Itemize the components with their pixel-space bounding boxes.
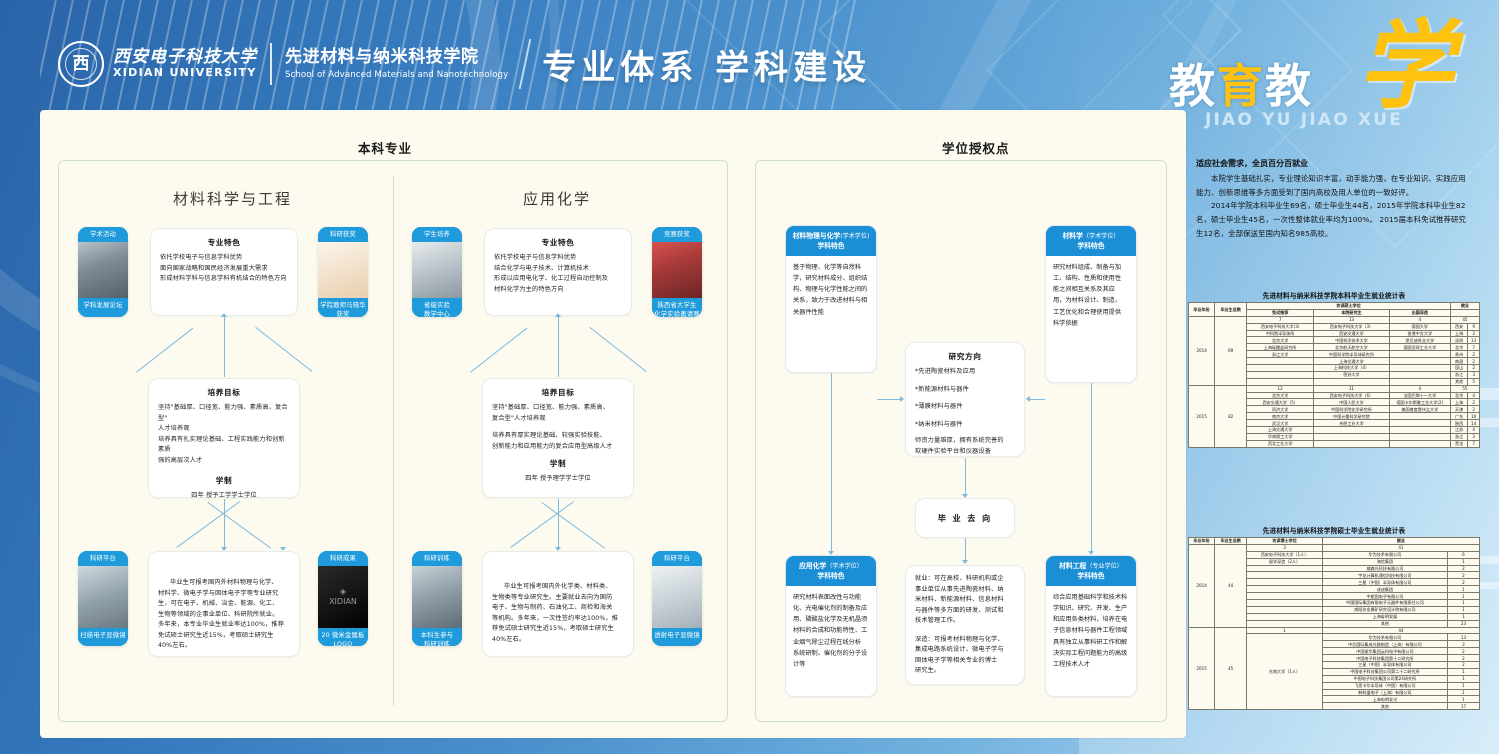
cell-recommend: 西安交通大学（5） [1247, 399, 1314, 406]
photo-card-student-training[interactable]: 学生培养 省级实验 教学中心 [412, 227, 462, 317]
th-year: 毕业年份 [1189, 538, 1215, 545]
cell-employer: 成迪集团 [1322, 586, 1447, 593]
cell-number: 1 [1447, 613, 1479, 620]
cell-number: 2 [1468, 406, 1480, 413]
cell-region: 北京 [1450, 344, 1467, 351]
cell-employer: 韩科盛电子（上海）有限公司 [1322, 689, 1447, 696]
cell-number: 13 [1468, 337, 1480, 344]
discipline-body: 研究材料组成、制备与加 工、结构、性质和使用性 能之间相互关系及其应 用，为材料… [1046, 256, 1136, 334]
cell-number: 7 [1468, 440, 1480, 447]
cell-internal: 中国计量科学研究院 [1314, 413, 1390, 420]
cell-count: 4 [1389, 316, 1450, 323]
cell-employer: 威森光科技有限公司 [1322, 565, 1447, 572]
cell-employer: 宇龙计算机通信科技有限公司 [1322, 572, 1447, 579]
photo-card-head: 学术活动 [78, 227, 128, 242]
cell-number: 1 [1447, 696, 1479, 703]
cell-total: 44 [1215, 544, 1247, 627]
cell-number: 1 [1447, 689, 1479, 696]
cell-number: 2 [1447, 662, 1479, 669]
goal-box-chemistry: 培养目标 坚持"基础厚、口径宽、能力强、素质高、 复合型"人才培养观 培养具有厚… [482, 378, 634, 498]
discipline-line: 计等 [793, 659, 869, 670]
goal-line: 创新能力和应用能力的复合应用型高级人才 [492, 442, 624, 453]
photo-card-caption: 陕西省大学生 化学实验邀请赛 [652, 298, 702, 317]
feature-line: 形成以应用电化学、化工过程自动控制及 [494, 274, 622, 285]
outcome-line: 等机构。多年来，一次性签约率达100%，推 [492, 614, 624, 625]
cell-internal: 密苏大学 [1314, 371, 1390, 378]
discipline-card-materials-physics-chemistry[interactable]: 材料物理与化学(学术学位) 学科特色 基于物理、化学等自然科 学，研究材料成分、… [785, 225, 877, 373]
outcome-line: 40%左右。 [158, 641, 290, 652]
discipline-body: 研究材料表面改性与功能 化、光电催化剂的制备及应 用、磷酸盐化学及无机晶须 材料… [786, 586, 876, 675]
cell-number: 13 [1447, 634, 1479, 641]
badge-char-yu: 育 [1217, 59, 1265, 113]
school-name-cn: 先进材料与纳米科技学院 [285, 47, 508, 68]
discipline-line: 和应用各类材料，培养在电 [1053, 614, 1129, 625]
cell-number: 1 [1447, 586, 1479, 593]
feature-box-chemistry: 专业特色 依托学校电子与信息学科优势 结合化学与电子技术、计算机技术 形成以应用… [484, 228, 632, 316]
connector-v [558, 499, 559, 547]
feature-line: 面向国家战略和国民经济发展重大需求 [160, 264, 288, 275]
cell-abroad [1389, 427, 1450, 434]
connector-v [965, 458, 966, 494]
cell-job-count: 41 [1322, 544, 1479, 551]
photo-card-research-platform-tem[interactable]: 科研平台 透射电子显微镜 [652, 551, 702, 646]
cell-number: 2 [1447, 648, 1479, 655]
page-title: 专业体系 学科建设 [542, 40, 871, 89]
discipline-head: 应用化学（学术学位） 学科特色 [786, 556, 876, 586]
cell-employer: 中航国电子有限公司 [1322, 593, 1447, 600]
photo-card-caption: 学院教师马晓华获奖 陕西省科技进步一等奖 [318, 298, 368, 317]
th-internal: 本院研究生 [1314, 309, 1390, 316]
discipline-degree: （学术学位） [826, 563, 863, 570]
th-employment: 就业 [1322, 538, 1479, 545]
discipline-card-materials-engineering[interactable]: 材料工程（专业学位） 学科特色 综合应用基础科学和技术科 学知识、研究、开发、生… [1045, 555, 1137, 697]
connector-arrow [1026, 396, 1030, 402]
cell-recommend [1247, 358, 1314, 365]
cell-number: 1 [1447, 600, 1479, 607]
outcome-line: 电子、生物与制药、石油化工、商检和海关 [492, 603, 624, 614]
badge-char-xue: 学 [1357, 18, 1453, 114]
cell-recommend: 西安电子科技大学(3) [1247, 323, 1314, 330]
cell-abroad [1389, 413, 1450, 420]
connector-v [224, 317, 225, 377]
discipline-line: 构、物理与化学性能之间的 [793, 284, 869, 295]
cell-recommend: 浙江大学 [1247, 351, 1314, 358]
discipline-line: 学知识、研究、开发、生产 [1053, 603, 1129, 614]
master-table-title: 先进材料与纳米科技学院硕士毕业生就业统计表 [1188, 525, 1480, 535]
cell-region: 浙江 [1450, 433, 1467, 440]
cell-region: 上海 [1450, 399, 1467, 406]
outcome-line: 毕业生可报考国内外材料物理与化学、 [158, 578, 290, 589]
discipline-line: 能之间相互关系及其应 [1053, 284, 1129, 295]
discipline-line: 学，研究材料成分、组织结 [793, 273, 869, 284]
cell-phd [1247, 606, 1323, 613]
seal-glyph: 西 [73, 56, 90, 73]
outcome-line: 荐免试硕士研究生近15%，考取硕士研究生 [492, 624, 624, 635]
cell-recommend: 上海硅酸盐研究所 [1247, 344, 1314, 351]
photo-card-competition-award[interactable]: 竞赛获奖 陕西省大学生 化学实验邀请赛 [652, 227, 702, 317]
discipline-head: 材料学（学术学位） 学科特色 [1046, 226, 1136, 256]
cell-phd [1247, 565, 1323, 572]
photo-card-caption: 学科发展论坛 [78, 298, 128, 313]
cell-count: 45 [1450, 316, 1479, 323]
cell-count: 12 [1247, 385, 1314, 392]
feature-line: 结合化学与电子技术、计算机技术 [494, 264, 622, 275]
undergrad-stats-table-wrap: 先进材料与纳米科技学院本科毕业生就业统计表 毕业年份毕业生总数攻读硕士学位就业免… [1188, 290, 1480, 448]
discipline-line: 基于物理、化学等自然科 [793, 262, 869, 273]
discipline-line: 业烟气除尘过程在线分析 [793, 637, 869, 648]
discipline-line: 关系，致力于改进材料与相 [793, 295, 869, 306]
cell-phd [1247, 579, 1323, 586]
discipline-card-applied-chemistry[interactable]: 应用化学（学术学位） 学科特色 研究材料表面改性与功能 化、光电催化剂的制备及应… [785, 555, 877, 697]
cell-recommend [1247, 371, 1314, 378]
photo-card-head: 科研平台 [652, 551, 702, 566]
connector-arrow [962, 560, 968, 564]
discipline-card-materials-science[interactable]: 材料学（学术学位） 学科特色 研究材料组成、制备与加 工、结构、性质和使用性 能… [1045, 225, 1137, 383]
cell-number: 1 [1447, 558, 1479, 565]
th-employment: 就业 [1450, 303, 1479, 310]
discipline-line: 具有独立从事科研工作和解 [1053, 637, 1129, 648]
photo-card-research-training[interactable]: 科研训练 本科生参与 科研训练 [412, 551, 462, 646]
discipline-line: 工、结构、性质和使用性 [1053, 273, 1129, 284]
cell-internal: 北京航天航空大学 [1314, 344, 1390, 351]
table-header-row: 毕业年份毕业生总数攻读博士学位就业 [1189, 538, 1480, 545]
cell-employer: 中国电子科技集团公司第二十二研究所 [1322, 668, 1447, 675]
cell-region: 昆山 [1450, 365, 1467, 372]
university-names: 西安电子科技大学 XIDIAN UNIVERSITY [113, 48, 257, 81]
destination-title: 毕 业 去 向 [938, 513, 992, 524]
cell-abroad: 德国大学 [1389, 323, 1450, 330]
cell-number: 6 [1447, 551, 1479, 558]
brand-divider [270, 43, 272, 85]
th-total: 毕业生总数 [1215, 303, 1247, 317]
photo-card-caption: 本科生参与 科研训练 [412, 628, 462, 646]
feature-line: 形成材料学科与信息学科有机结合的特色方向 [160, 274, 288, 285]
cell-number: 3 [1468, 433, 1480, 440]
cell-number: 1 [1447, 593, 1479, 600]
goal-line: 强的高层次人才 [158, 456, 290, 467]
cell-internal: 合肥工业大学 [1314, 420, 1390, 427]
discipline-line: 系统研制、催化剂的分子设 [793, 648, 869, 659]
cell-region: 北京 [1450, 392, 1467, 399]
photo-image [78, 566, 128, 628]
cell-internal [1314, 440, 1390, 447]
photo-image [652, 242, 702, 298]
cell-count: 13 [1314, 316, 1390, 323]
cell-number: 2 [1468, 330, 1480, 337]
discipline-name: 材料物理与化学 [793, 232, 841, 240]
photo-image [78, 242, 128, 298]
left-column-title: 本科专业 [358, 138, 412, 157]
cell-region: 天津 [1450, 406, 1467, 413]
table-header-row: 毕业年份毕业生总数攻读硕士学位就业 [1189, 303, 1480, 310]
goal-line-spacer [492, 424, 624, 431]
cell-phd [1247, 613, 1323, 620]
th-total: 毕业生总数 [1215, 538, 1247, 545]
cell-abroad [1389, 358, 1450, 365]
cell-internal: 中国科学院半导体研究所 [1314, 351, 1390, 358]
cell-number: 2 [1447, 655, 1479, 662]
cell-count: 55 [1450, 385, 1479, 392]
photo-card-head: 学生培养 [412, 227, 462, 242]
goal-line: 坚持"基础厚、口径宽、能力强、素质高、复合型" [158, 403, 290, 424]
discipline-name: 应用化学 [799, 562, 826, 570]
photo-image [412, 242, 462, 298]
cell-recommend: 上海交通大学 [1247, 427, 1314, 434]
cell-number: 10 [1468, 413, 1480, 420]
cell-region: 浙江 [1450, 371, 1467, 378]
cell-recommend: 华南理工大学 [1247, 433, 1314, 440]
cell-abroad: 美国普度堡州立大学 [1389, 406, 1450, 413]
connector-v [965, 538, 966, 560]
cell-recommend: 北京大学 [1247, 337, 1314, 344]
cell-phd: 东南大学（1人） [1247, 634, 1323, 710]
photo-card-research-platform-sem[interactable]: 科研平台 扫描电子显微镜 [78, 551, 128, 646]
right-info-panel: 适应社会需求，全员百分百就业 本院学生基础扎实，专业理论知识丰富，动手能力强，在… [1186, 110, 1486, 738]
discipline-line: 用、磷酸盐化学及无机晶须 [793, 614, 869, 625]
discipline-line: 关器件性能 [793, 307, 869, 318]
photo-card-caption: 20 微米金属板 LOGO [318, 628, 368, 646]
cell-job-count: 44 [1322, 627, 1479, 634]
cell-number: 3 [1447, 641, 1479, 648]
cell-phd [1247, 572, 1323, 579]
photo-card-research-award[interactable]: 科研获奖 学院教师马晓华获奖 陕西省科技进步一等奖 [318, 227, 368, 317]
research-item: *先进陶瓷材料及应用 [915, 367, 1015, 378]
cell-year: 2015 [1189, 627, 1215, 710]
cell-internal [1314, 427, 1390, 434]
major-title-chemistry: 应用化学 [523, 188, 591, 209]
cell-employer: 华为技术有限公司 [1322, 551, 1447, 558]
employment-line: 事业单位从事先进陶瓷材料、纳 [915, 585, 1015, 596]
cell-number: 4 [1468, 392, 1480, 399]
cell-count: 4 [1389, 385, 1450, 392]
connector-h [877, 399, 900, 400]
connector-v [558, 317, 559, 377]
goal-line: 培养具有厚实理论基础、较强实验技能、 [492, 431, 624, 442]
cell-abroad [1389, 365, 1450, 372]
cell-phd-count: 3 [1247, 544, 1323, 551]
undergrad-employment-table[interactable]: 毕业年份毕业生总数攻读硕士学位就业免试推荐本院研究生出国深造2014697134… [1188, 302, 1480, 448]
cell-internal: 上海科技大学（4） [1314, 365, 1390, 372]
school-names: 先进材料与纳米科技学院 School of Advanced Materials… [285, 47, 508, 80]
cell-number: 23 [1447, 620, 1479, 627]
table-row: 201469713445 [1189, 316, 1480, 323]
research-item: *新能源材料与器件 [915, 385, 1015, 396]
th-phd: 攻读博士学位 [1247, 538, 1323, 545]
connector-v-long-right [1091, 383, 1092, 551]
school-name-en: School of Advanced Materials and Nanotec… [285, 69, 508, 81]
cell-abroad [1389, 371, 1450, 378]
photo-image [318, 242, 368, 298]
cell-employer: 咸阳非金属矿研究设计院有限公司 [1322, 606, 1447, 613]
further-line: 深造：可报考材料物理与化学、 [915, 635, 1015, 646]
employment-line: 与器件等多方面的研发、测试和 [915, 606, 1015, 617]
outcome-line: 免试硕士研究生近15%，考取硕士研究生 [158, 631, 290, 642]
cell-region: 上海 [1450, 330, 1467, 337]
discipline-degree: (学术学位) [840, 233, 869, 240]
discipline-line: 决实际工程问题能力的高级 [1053, 648, 1129, 659]
cell-abroad: 香港中文大学 [1389, 330, 1450, 337]
cell-number: 9 [1468, 323, 1480, 330]
discipline-subtitle: 学科特色 [1077, 572, 1104, 580]
discipline-line: 用，为材料设计、制造、 [1053, 295, 1129, 306]
outcome-line: 多年来，本专业毕业生就业率达100%，推荐 [158, 620, 290, 631]
photo-card-head: 科研获奖 [318, 227, 368, 242]
cell-phd [1247, 593, 1323, 600]
undergrad-table-title: 先进材料与纳米科技学院本科毕业生就业统计表 [1188, 290, 1480, 300]
cell-abroad: 法国巴黎十一大学 [1389, 392, 1450, 399]
cell-employer: 其他 [1322, 620, 1447, 627]
photo-card-head: 竞赛获奖 [652, 227, 702, 242]
cell-recommend: 中科院半导体所 [1247, 330, 1314, 337]
employment-line: 技术管理工作。 [915, 616, 1015, 627]
goal-line: 复合型"人才培养观 [492, 414, 624, 425]
feature-line: 依托学校电子与信息学科优势 [494, 253, 622, 264]
feature-title: 专业特色 [160, 237, 288, 248]
cell-recommend: 西北工业大学 [1247, 440, 1314, 447]
cell-region: 其他 [1450, 378, 1467, 385]
cell-internal: 上海交通大学 [1314, 358, 1390, 365]
discipline-head: 材料工程（专业学位） 学科特色 [1046, 556, 1136, 586]
outcome-line: 毕业生可报考国内外化学类、材料类、 [492, 582, 624, 593]
cell-abroad [1389, 433, 1450, 440]
goal-line: 培养具有扎实理论基础、工程实践能力和创新素质 [158, 435, 290, 456]
cell-number: 1 [1447, 668, 1479, 675]
page-header: 西 西安电子科技大学 XIDIAN UNIVERSITY 先进材料与纳米科技学院… [0, 0, 1499, 118]
discipline-name: 材料工程 [1059, 562, 1086, 570]
outcome-line: 40%左右。 [492, 635, 624, 646]
cell-total: 45 [1215, 627, 1247, 710]
cell-phd: 西安电子科技大学（1人） [1247, 551, 1323, 558]
badge-char-jiao1: 教 [1169, 59, 1217, 113]
cell-number: 1 [1447, 682, 1479, 689]
photo-card-caption: 透射电子显微镜 [652, 628, 702, 643]
photo-card-research-achievement[interactable]: 科研成果 ◈XIDIAN 20 微米金属板 LOGO [318, 551, 368, 646]
cell-region: 贵州 [1450, 351, 1467, 358]
cell-recommend: 武汉大学 [1247, 420, 1314, 427]
th-abroad: 出国深造 [1389, 309, 1450, 316]
goal-title: 培养目标 [158, 387, 290, 398]
employment-paragraph: 2014年学院本科毕业生69名，硕士毕业生44名，2015年学院本科毕业生82名… [1196, 199, 1472, 240]
goal-box-materials: 培养目标 坚持"基础厚、口径宽、能力强、素质高、复合型" 人才培养观 培养具有扎… [148, 378, 300, 498]
cell-employer: 华为技术有限公司 [1322, 634, 1447, 641]
cell-number: 4 [1468, 427, 1480, 434]
cell-internal: 西安电子科技大学（6） [1314, 392, 1390, 399]
feature-line: 材料化学为主的特色方向 [494, 285, 622, 296]
cell-number: 2 [1447, 572, 1479, 579]
brand-lockup: 西 西安电子科技大学 XIDIAN UNIVERSITY 先进材料与纳米科技学院… [58, 36, 871, 92]
discipline-line: 工艺优化和合理使用提供 [1053, 307, 1129, 318]
employment-line: 米材料、新能源材料、信息材料 [915, 595, 1015, 606]
xidian-logo-icon: ◈XIDIAN [329, 587, 357, 608]
majors-divider [393, 176, 394, 706]
cell-internal: 西安交通大学 [1314, 330, 1390, 337]
discipline-degree: （学术学位） [1083, 233, 1120, 240]
cell-recommend [1247, 365, 1314, 372]
system-title: 学制 [492, 458, 624, 469]
photo-image [412, 566, 462, 628]
cell-internal [1314, 433, 1390, 440]
cell-abroad: 德国亚琛工业大学 [1389, 344, 1450, 351]
cell-number: 3 [1468, 371, 1480, 378]
cell-number: 2 [1468, 365, 1480, 372]
table-row: 201545144 [1189, 627, 1480, 634]
cell-employer: 中国电子科技集团第十二研究所 [1322, 655, 1447, 662]
cell-number: 1 [1447, 675, 1479, 682]
connector-arrow [555, 313, 561, 317]
discipline-line: 工程技术人才 [1053, 659, 1129, 670]
photo-card-head: 科研训练 [412, 551, 462, 566]
cell-number: 7 [1468, 344, 1480, 351]
outcome-line: 生物类等专业研究生。主要就业去向为国防 [492, 593, 624, 604]
cell-phd-count: 1 [1247, 627, 1323, 634]
outcome-box-chemistry: 毕业生可报考国内外化学类、材料类、 生物类等专业研究生。主要就业去向为国防 电子… [482, 551, 634, 657]
discipline-line: 综合应用基础科学和技术科 [1053, 592, 1129, 603]
research-note: 师资力量雄厚，拥有系统完善的 [915, 436, 1015, 447]
cell-employer: 三星（中国）半导体有限公司 [1322, 662, 1447, 669]
cell-employer: 海信集团 [1322, 558, 1447, 565]
master-employment-table[interactable]: 毕业年份毕业生总数攻读博士学位就业201444341西安电子科技大学（1人）华为… [1188, 537, 1480, 710]
cell-internal: 中国科学技术大学 [1314, 337, 1390, 344]
discipline-body: 基于物理、化学等自然科 学，研究材料成分、组织结 构、物理与化学性能之间的 关系… [786, 256, 876, 323]
cell-year: 2014 [1189, 544, 1215, 627]
cell-internal [1314, 378, 1390, 385]
cell-number: 2 [1447, 579, 1479, 586]
cell-number: 17 [1447, 703, 1479, 710]
cell-region: 广东 [1450, 413, 1467, 420]
cell-number: 14 [1468, 420, 1480, 427]
photo-card-head: 科研成果 [318, 551, 368, 566]
cell-total: 69 [1215, 316, 1247, 385]
cell-region: 南昌 [1450, 358, 1467, 365]
cell-number: 2 [1468, 351, 1480, 358]
cell-employer: 中国国际集团有限电子元器件有限责任公司 [1322, 600, 1447, 607]
content-canvas: 本科专业 材料科学与工程 学术活动 学科发展论坛 专业特色 依托学校电子与信息学… [40, 110, 1186, 738]
cell-region: 黑龙 [1450, 440, 1467, 447]
cell-employer: 上海省明发展 [1322, 613, 1447, 620]
cell-employer: 飞思卡尔半导体（中国）有限公司 [1322, 682, 1447, 689]
outcome-line: 材料学、微电子学与固体电子学等专业研究 [158, 589, 290, 600]
research-title: 研究方向 [915, 351, 1015, 362]
cell-recommend: 北京大学 [1247, 392, 1314, 399]
cell-internal: 中国人民大学 [1314, 399, 1390, 406]
master-stats-table-wrap: 先进材料与纳米科技学院硕士毕业生就业统计表 毕业年份毕业生总数攻读博士学位就业2… [1188, 525, 1480, 710]
connector-v [224, 499, 225, 547]
cell-employer: 上海电明发光 [1322, 696, 1447, 703]
further-line: 研究生。 [915, 666, 1015, 677]
photo-card-academic-activity[interactable]: 学术活动 学科发展论坛 [78, 227, 128, 317]
cell-recommend: 同济大学 [1247, 406, 1314, 413]
feature-title: 专业特色 [494, 237, 622, 248]
cell-region: 江苏 [1450, 427, 1467, 434]
th-emp-detail [1450, 309, 1479, 316]
employment-headline: 适应社会需求，全员百分百就业 [1196, 158, 1472, 169]
cell-region: 深圳 [1450, 337, 1467, 344]
employment-narrative: 适应社会需求，全员百分百就业 本院学生基础扎实，专业理论知识丰富，动手能力强，在… [1186, 110, 1486, 240]
cell-number: 1 [1447, 606, 1479, 613]
table-row: 201444341 [1189, 544, 1480, 551]
photo-card-head: 科研平台 [78, 551, 128, 566]
university-name-cn: 西安电子科技大学 [113, 48, 257, 67]
cell-year: 2015 [1189, 385, 1215, 447]
cell-internal: 中国科学院化学研究所 [1314, 406, 1390, 413]
goal-line: 坚持"基础厚、口径宽、能力强、素质高、 [492, 403, 624, 414]
discipline-subtitle: 学科特色 [1077, 242, 1104, 250]
cell-employer: 中国电子科技集团公司第24研究所 [1322, 675, 1447, 682]
cell-employer: 其他 [1322, 703, 1447, 710]
discipline-line: 研究材料表面改性与功能 [793, 592, 869, 603]
outcome-box-materials: 毕业生可报考国内外材料物理与化学、 材料学、微电子学与固体电子学等专业研究 生，… [148, 551, 300, 657]
cell-phd [1247, 586, 1323, 593]
